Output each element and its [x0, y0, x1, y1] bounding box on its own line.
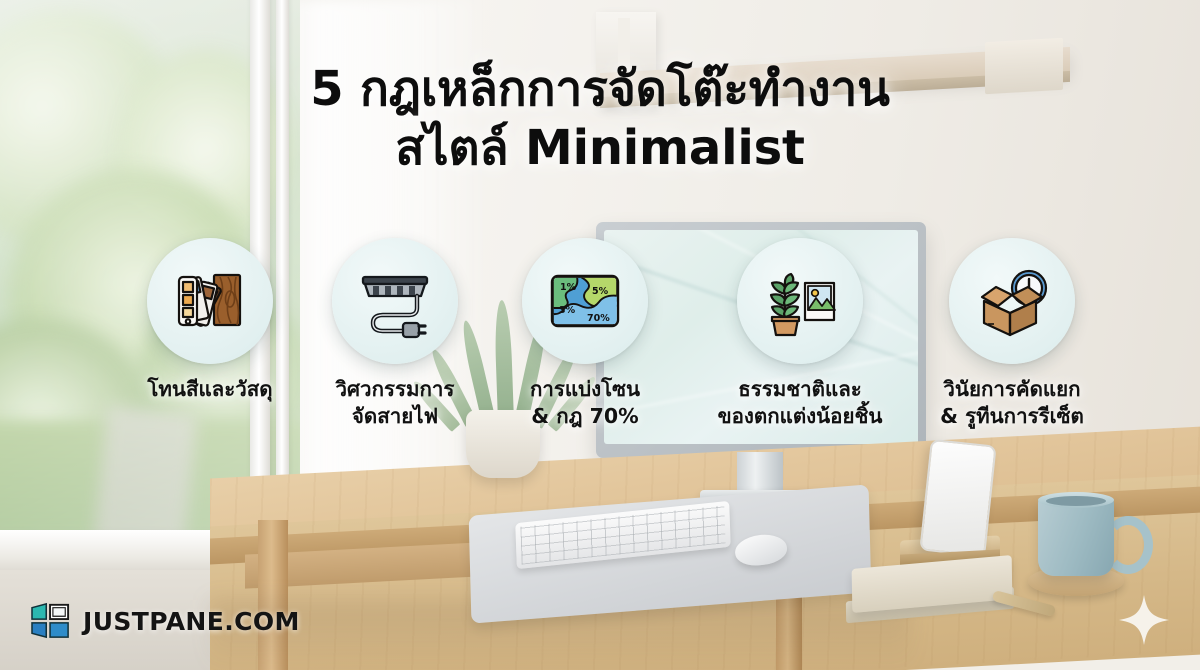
title-line-2: สไตล์ Minimalist [0, 119, 1200, 178]
caption-line-1: วิศวกรรมการ [336, 377, 455, 401]
item-declutter-reset-routine[interactable]: วินัยการคัดแยก & รูทีนการรีเซ็ต [892, 238, 1132, 429]
zone-label-2: 5% [592, 286, 609, 297]
smartphone [919, 439, 996, 557]
item-caption: ธรรมชาติและ ของตกแต่งน้อยชิ้น [680, 376, 920, 429]
caption-line-2: & รูทีนการรีเซ็ต [940, 404, 1084, 428]
mug-interior [1046, 496, 1106, 506]
potted-plant-picture-frame-icon [760, 261, 840, 341]
box-clock-icon [972, 261, 1052, 341]
icon-circle [147, 238, 273, 364]
sparkle-icon [1118, 594, 1170, 646]
mug [1038, 496, 1114, 576]
item-caption: วิศวกรรมการ จัดสายไฟ [295, 376, 495, 429]
zone-label-4: 70% [587, 313, 610, 324]
logo-text: JUSTPANE.COM [83, 607, 300, 636]
icon-circle [737, 238, 863, 364]
color-swatch-wood-icon [170, 261, 250, 341]
title-line-1: 5 กฎเหล็กการจัดโต๊ะทำงาน [310, 61, 890, 117]
caption-line-1: การแบ่งโซน [530, 377, 640, 401]
caption-line-2: ของตกแต่งน้อยชิ้น [718, 404, 883, 428]
item-caption: การแบ่งโซน & กฎ 70% [485, 376, 685, 429]
item-caption: วินัยการคัดแยก & รูทีนการรีเซ็ต [892, 376, 1132, 429]
caption-line-2: & กฎ 70% [531, 404, 638, 428]
infographic-canvas: 5 กฎเหล็กการจัดโต๊ะทำงาน สไตล์ Minimalis… [0, 0, 1200, 670]
caption-line-1: วินัยการคัดแยก [943, 377, 1080, 401]
item-cable-management[interactable]: วิศวกรรมการ จัดสายไฟ [295, 238, 495, 429]
caption-line-1: โทนสีและวัสดุ [147, 377, 272, 401]
caption-line-2: จัดสายไฟ [352, 404, 438, 428]
icon-circle: 1% 5% 3% 70% [522, 238, 648, 364]
site-logo[interactable]: JUSTPANE.COM [30, 602, 300, 640]
item-nature-minimal-decor[interactable]: ธรรมชาติและ ของตกแต่งน้อยชิ้น [680, 238, 920, 429]
zone-map-percent-icon: 1% 5% 3% 70% [545, 261, 625, 341]
icon-circle [332, 238, 458, 364]
item-zoning-70-rule[interactable]: 1% 5% 3% 70% การแบ่งโซน & กฎ 70% [485, 238, 685, 429]
item-color-tones-materials[interactable]: โทนสีและวัสดุ [110, 238, 310, 403]
caption-line-1: ธรรมชาติและ [738, 377, 862, 401]
power-strip-cable-icon [355, 261, 435, 341]
icon-row: โทนสีและวัสดุ [0, 238, 1200, 448]
zone-label-1: 1% [560, 282, 577, 293]
zone-label-3: 3% [559, 305, 576, 316]
monitor-neck [737, 452, 783, 494]
icon-circle [949, 238, 1075, 364]
item-caption: โทนสีและวัสดุ [110, 376, 310, 403]
page-title: 5 กฎเหล็กการจัดโต๊ะทำงาน สไตล์ Minimalis… [0, 60, 1200, 177]
window-pane-logo-icon [30, 602, 72, 640]
